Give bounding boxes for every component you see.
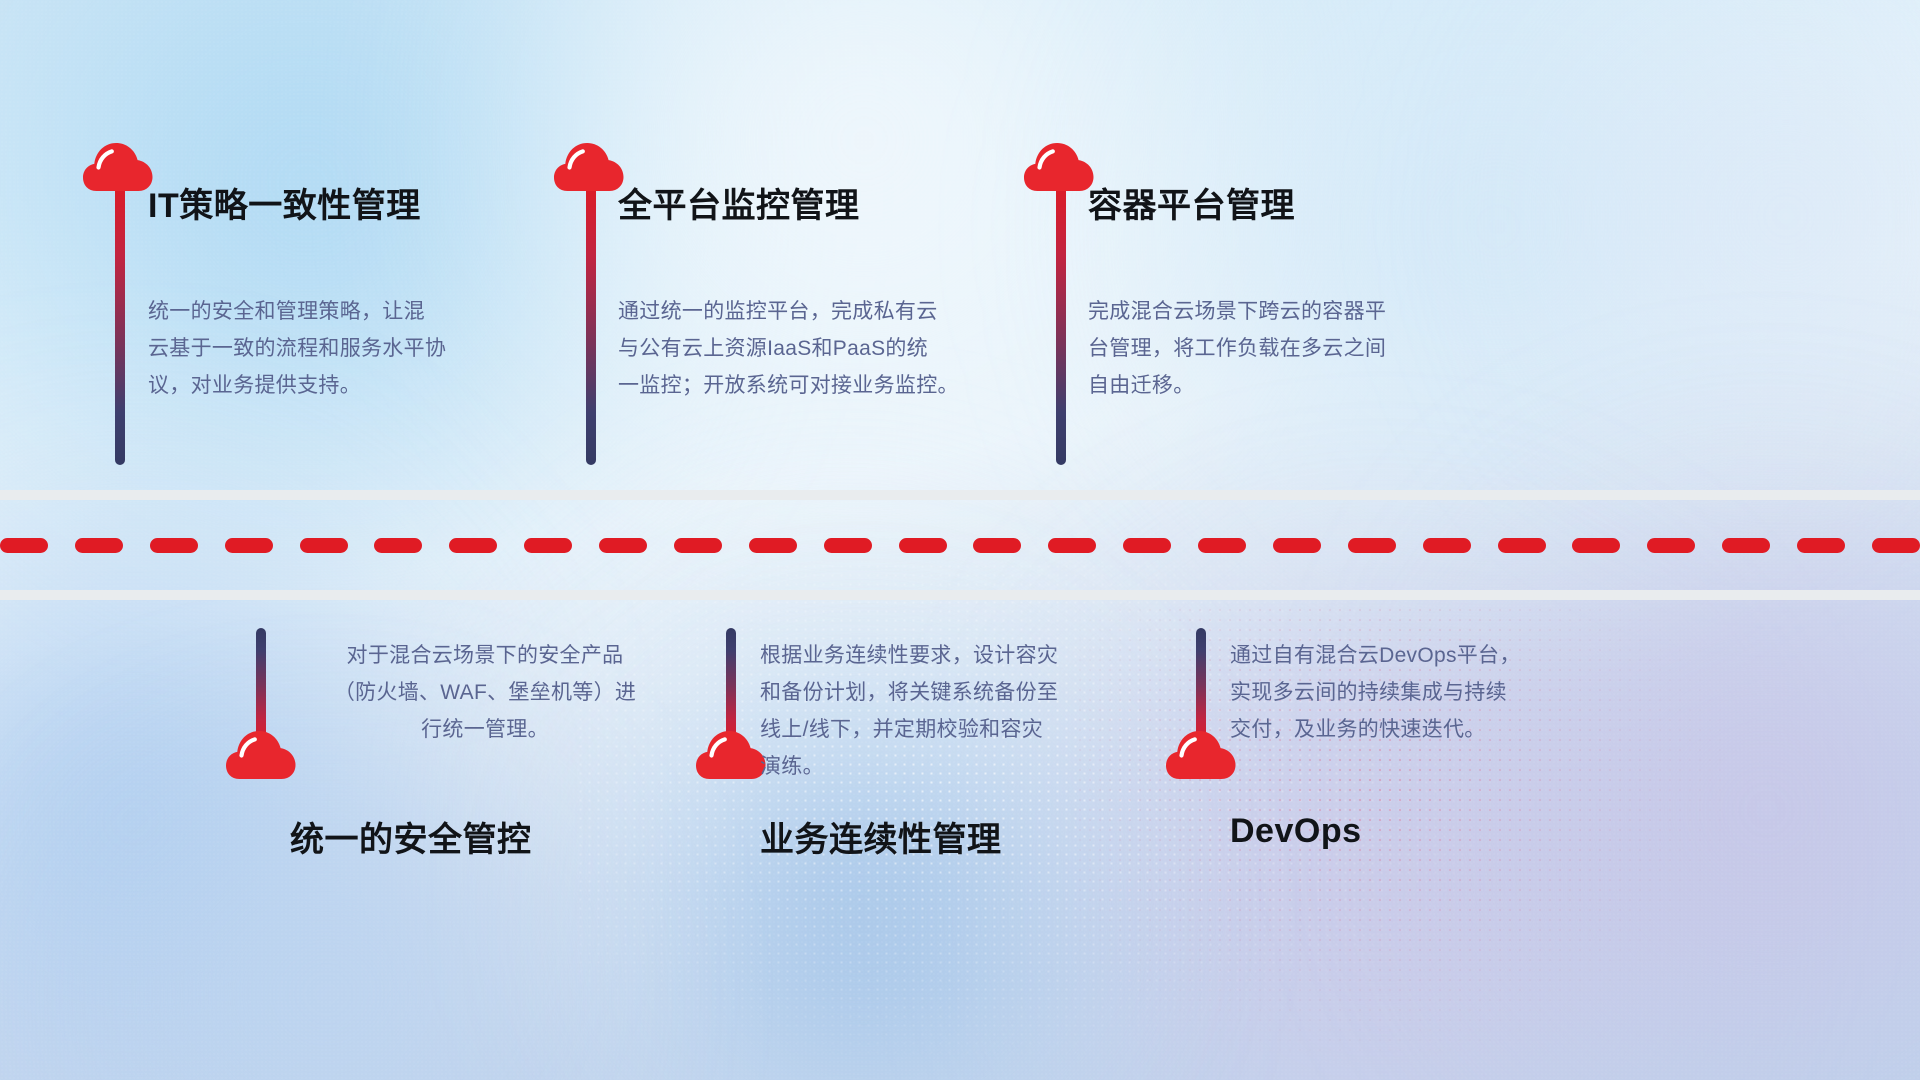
road-dash (1348, 538, 1396, 553)
road-dash (899, 538, 947, 553)
road-dash (1198, 538, 1246, 553)
cloud-icon (1023, 140, 1095, 192)
cloud-icon (695, 728, 767, 780)
road-dash (599, 538, 647, 553)
feature-title: DevOps (1230, 812, 1362, 851)
cloud-icon (1165, 728, 1237, 780)
road-dash (973, 538, 1021, 553)
feature-title: 容器平台管理 (1088, 178, 1295, 227)
cloud-icon (225, 728, 297, 780)
feature-description: 通过统一的监控平台，完成私有云 与公有云上资源IaaS和PaaS的统 一监控；开… (618, 293, 998, 404)
feature-item-bottom-3[interactable]: 通过自有混合云DevOps平台， 实现多云间的持续集成与持续 交付，及业务的快速… (0, 0, 640, 480)
road-dash (674, 538, 722, 553)
road-dash (1797, 538, 1845, 553)
feature-description: 通过自有混合云DevOps平台， 实现多云间的持续集成与持续 交付，及业务的快速… (1230, 637, 1620, 748)
road-dash (1572, 538, 1620, 553)
road-dash (1423, 538, 1471, 553)
road-dash (449, 538, 497, 553)
road-dash (300, 538, 348, 553)
feature-description: 对于混合云场景下的安全产品 （防火墙、WAF、堡垒机等）进 行统一管理。 (290, 637, 680, 748)
connector-stem (1056, 175, 1066, 465)
road-dash (1273, 538, 1321, 553)
feature-description: 根据业务连续性要求，设计容灾 和备份计划，将关键系统备份至 线上/线下，并定期校… (760, 637, 1160, 785)
road-dash (749, 538, 797, 553)
road-dash (1722, 538, 1770, 553)
road-edge-bottom (0, 590, 1920, 600)
road-dash (1123, 538, 1171, 553)
feature-title: 业务连续性管理 (760, 812, 1002, 861)
road-dash (524, 538, 572, 553)
road-dash (1498, 538, 1546, 553)
feature-title: 全平台监控管理 (618, 178, 860, 227)
road-divider (0, 490, 1920, 600)
road-dash (0, 538, 48, 553)
road-center-dashes (0, 537, 1920, 553)
road-dash (75, 538, 123, 553)
road-edge-top (0, 490, 1920, 500)
road-dash (824, 538, 872, 553)
road-dash (1872, 538, 1920, 553)
road-dash (1647, 538, 1695, 553)
road-dash (225, 538, 273, 553)
road-dash (150, 538, 198, 553)
road-dash (374, 538, 422, 553)
feature-title: 统一的安全管控 (290, 812, 532, 861)
feature-description: 完成混合云场景下跨云的容器平 台管理，将工作负载在多云之间 自由迁移。 (1088, 293, 1468, 404)
road-dash (1048, 538, 1096, 553)
